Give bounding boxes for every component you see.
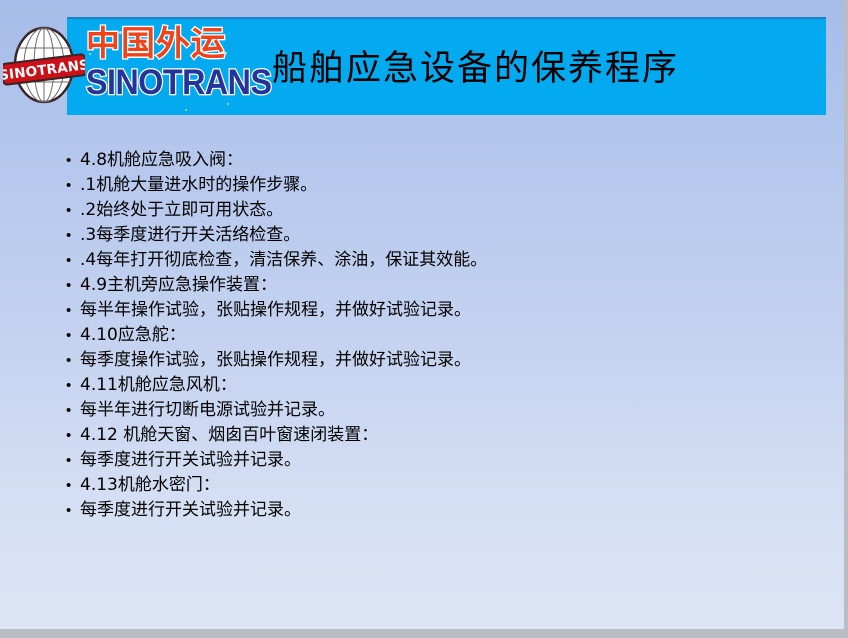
list-item: •每季度进行开关试验并记录。: [56, 448, 816, 473]
bullet-icon: •: [56, 448, 80, 473]
list-item-text: 每半年操作试验，张贴操作规程，并做好试验记录。: [80, 298, 471, 323]
bullet-icon: •: [56, 323, 80, 348]
list-item-text: 4.13机舱水密门：: [80, 473, 220, 498]
bullet-icon: •: [56, 498, 80, 523]
list-item-text: .2始终处于立即可用状态。: [80, 198, 283, 223]
list-item: •每半年操作试验，张贴操作规程，并做好试验记录。: [56, 298, 816, 323]
brand-wordmark: 中国外运 SINOTRANS: [86, 24, 261, 112]
list-item-text: 每季度操作试验，张贴操作规程，并做好试验记录。: [80, 348, 471, 373]
list-item: •每季度进行开关试验并记录。: [56, 498, 816, 523]
list-item-text: .1机舱大量进水时的操作步骤。: [80, 173, 317, 198]
list-item: •4.8机舱应急吸入阀：: [56, 148, 816, 173]
bullet-icon: •: [56, 373, 80, 398]
page-title: 船舶应急设备的保养程序: [272, 40, 792, 91]
list-item: •4.13机舱水密门：: [56, 473, 816, 498]
brand-english-text: SINOTRANS: [86, 62, 247, 104]
list-item-text: 每半年进行切断电源试验并记录。: [80, 398, 335, 423]
list-item-text: 每季度进行开关试验并记录。: [80, 448, 301, 473]
list-item: •每半年进行切断电源试验并记录。: [56, 398, 816, 423]
list-item-text: 4.11机舱应急风机：: [80, 373, 237, 398]
list-item: •4.11机舱应急风机：: [56, 373, 816, 398]
bullet-icon: •: [56, 223, 80, 248]
sinotrans-globe-logo: SINOTRANS: [3, 22, 85, 108]
bullet-icon: •: [56, 248, 80, 273]
list-item-text: 4.9主机旁应急操作装置：: [80, 273, 277, 298]
list-item: •4.12 机舱天窗、烟囱百叶窗速闭装置：: [56, 423, 816, 448]
list-item-text: .3每季度进行开关活络检查。: [80, 223, 300, 248]
bullet-icon: •: [56, 273, 80, 298]
list-item: •.4每年打开彻底检查，清洁保养、涂油，保证其效能。: [56, 248, 816, 273]
list-item: •.1机舱大量进水时的操作步骤。: [56, 173, 816, 198]
bullet-icon: •: [56, 423, 80, 448]
list-item-text: 每季度进行开关试验并记录。: [80, 498, 301, 523]
list-item: •.2始终处于立即可用状态。: [56, 198, 816, 223]
list-item-text: 4.12 机舱天窗、烟囱百叶窗速闭装置：: [80, 423, 378, 448]
list-item: •.3每季度进行开关活络检查。: [56, 223, 816, 248]
globe-icon: SINOTRANS: [3, 22, 85, 108]
bullet-icon: •: [56, 198, 80, 223]
list-item-text: 4.10应急舵：: [80, 323, 186, 348]
list-item: •4.10应急舵：: [56, 323, 816, 348]
bullet-icon: •: [56, 473, 80, 498]
list-item: •每季度操作试验，张贴操作规程，并做好试验记录。: [56, 348, 816, 373]
bullet-list: •4.8机舱应急吸入阀：•.1机舱大量进水时的操作步骤。•.2始终处于立即可用状…: [56, 148, 816, 523]
list-item-text: 4.8机舱应急吸入阀：: [80, 148, 243, 173]
bullet-icon: •: [56, 398, 80, 423]
bullet-icon: •: [56, 298, 80, 323]
list-item-text: .4每年打开彻底检查，清洁保养、涂油，保证其效能。: [80, 248, 487, 273]
list-item: •4.9主机旁应急操作装置：: [56, 273, 816, 298]
brand-chinese-text: 中国外运: [86, 24, 261, 64]
bullet-icon: •: [56, 148, 80, 173]
bullet-icon: •: [56, 348, 80, 373]
bullet-icon: •: [56, 173, 80, 198]
slide-canvas: 船舶应急设备的保养程序 SINOTRANS 中国外运 SINOTRANS •4.…: [0, 0, 844, 629]
